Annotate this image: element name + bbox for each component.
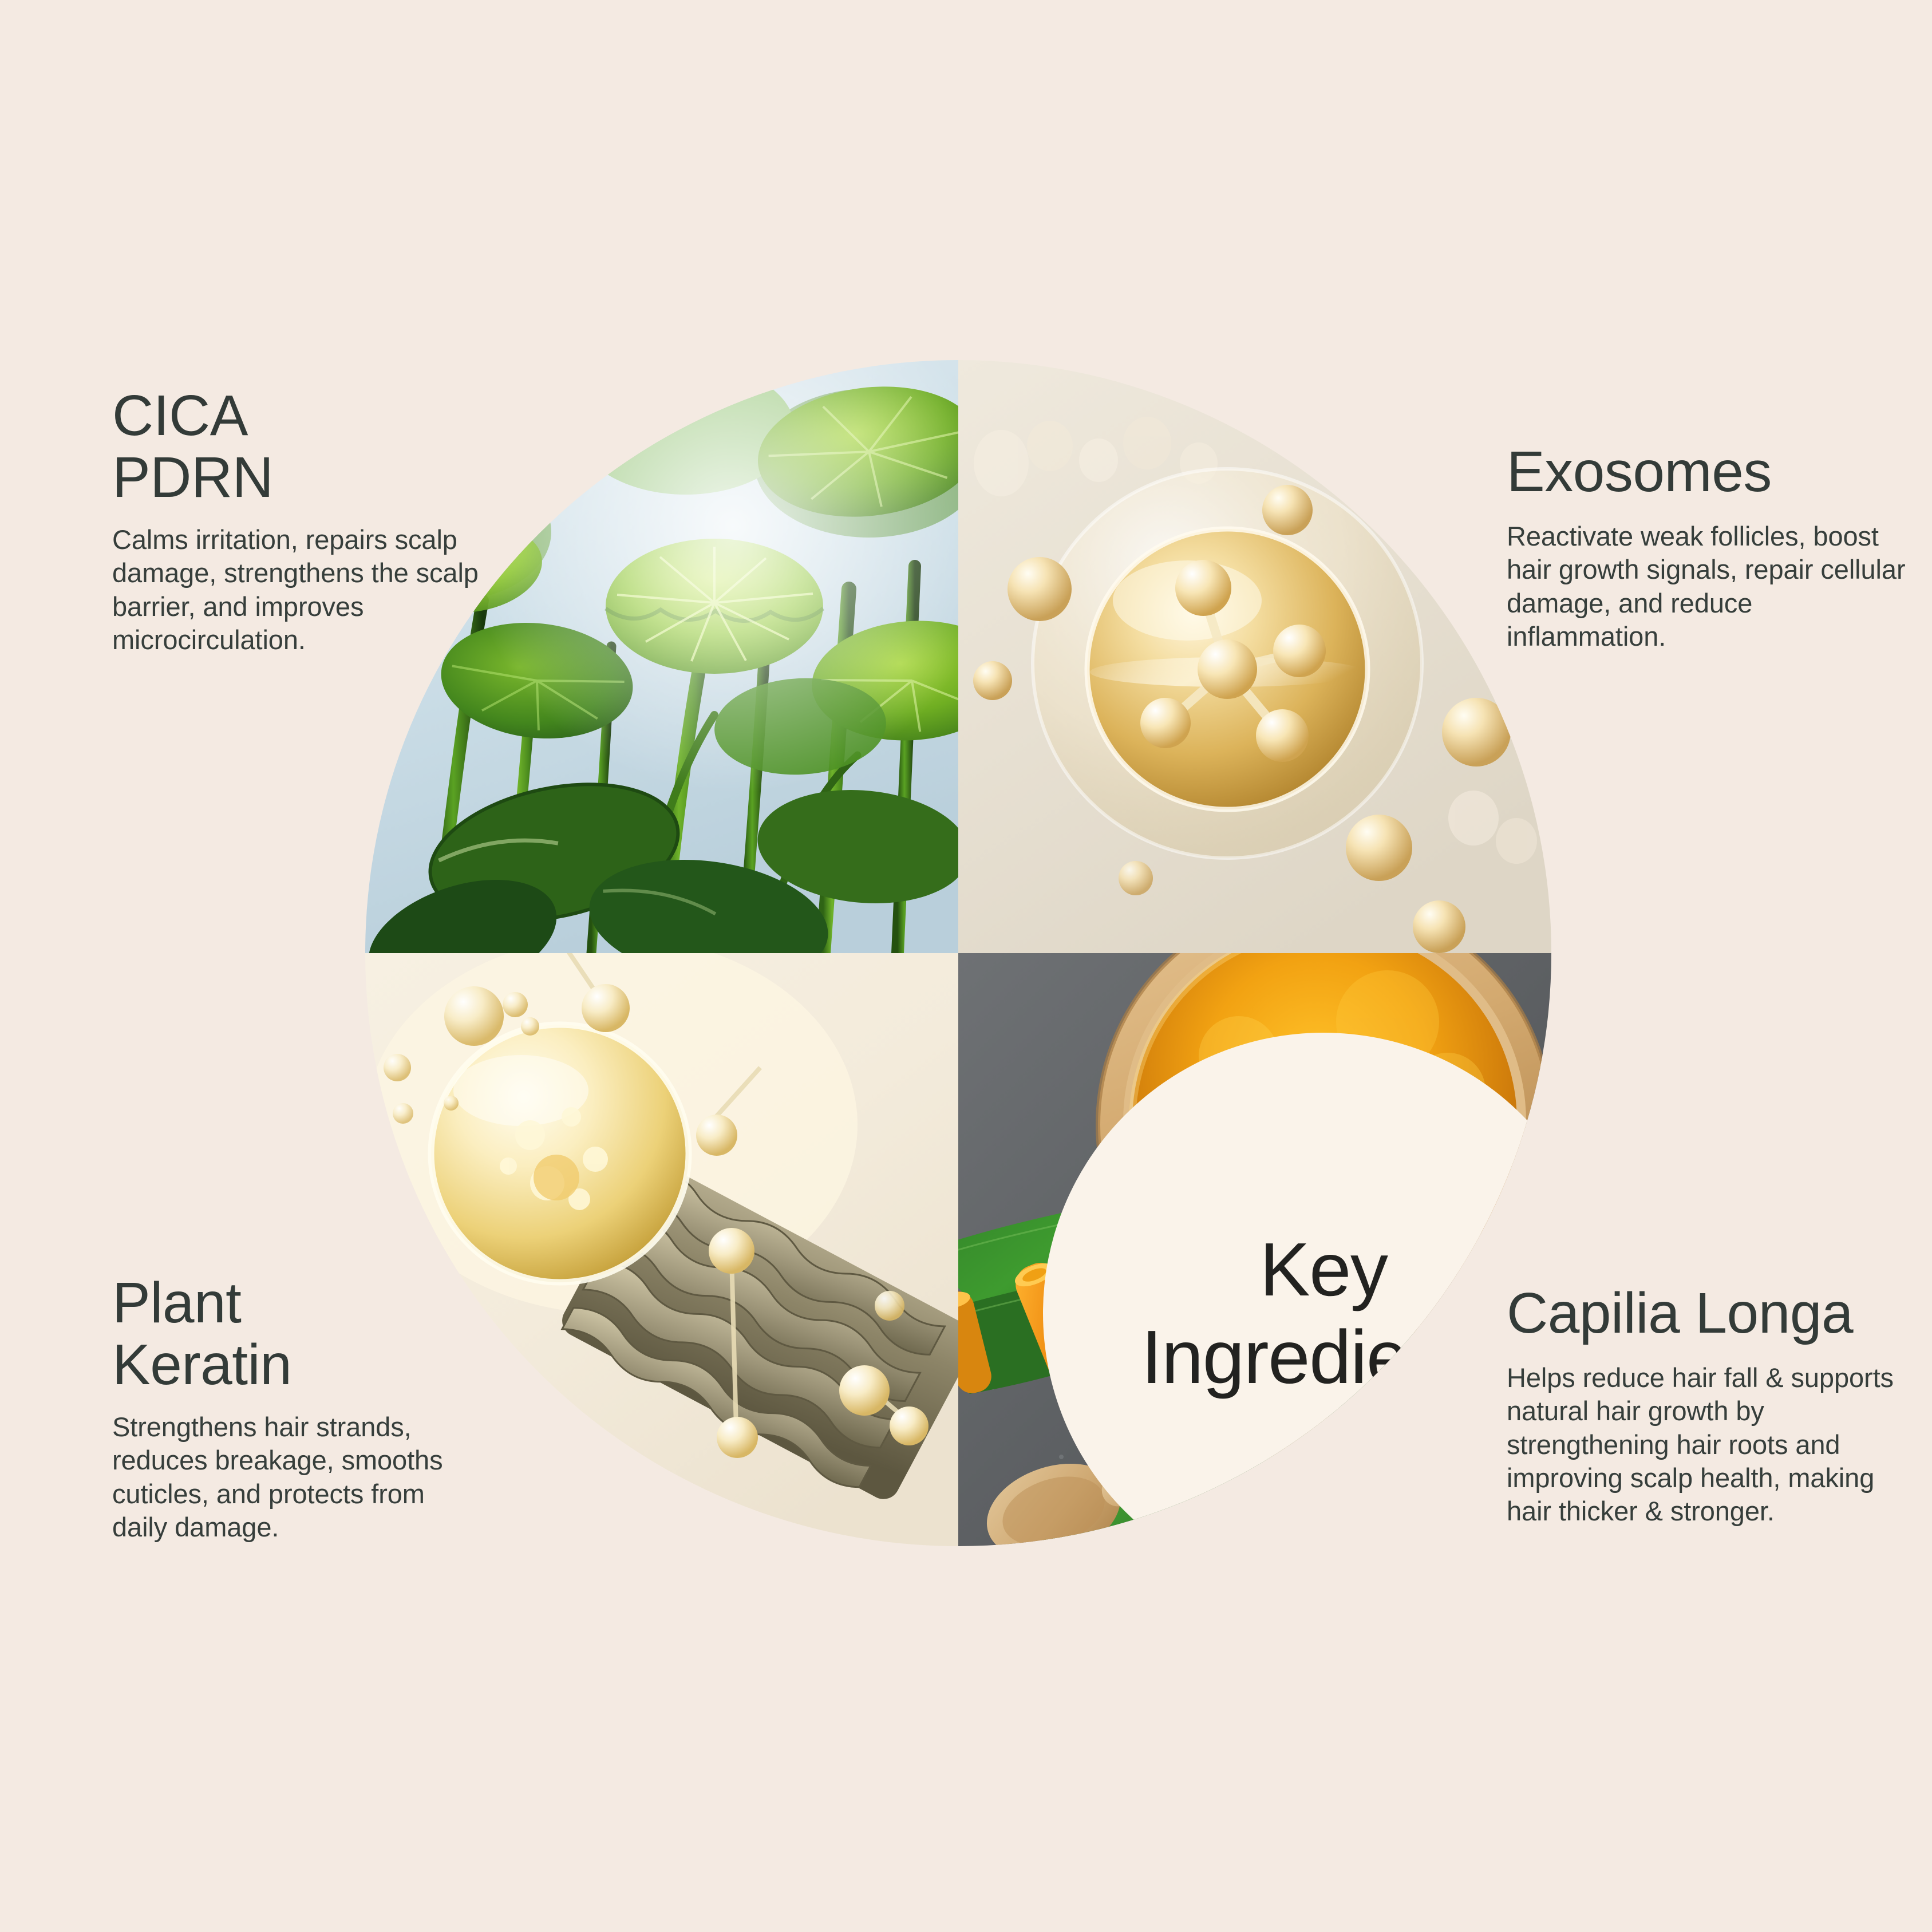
ingredient-body-capilia-longa: Helps reduce hair fall & supports natura… — [1507, 1361, 1919, 1528]
hub-title: Key Ingredients — [1141, 1226, 1506, 1401]
ingredient-block-cica-pdrn: CICA PDRN Calms irritation, repairs scal… — [112, 385, 479, 657]
ingredient-body-cica-pdrn: Calms irritation, repairs scalp damage, … — [112, 523, 479, 657]
ingredient-block-plant-keratin: Plant Keratin Strengthens hair strands, … — [112, 1272, 467, 1544]
ingredient-body-exosomes: Reactivate weak follicles, boost hair gr… — [1507, 520, 1919, 653]
quadrant-image-exosomes — [958, 360, 1551, 953]
ingredient-block-capilia-longa: Capilia Longa Helps reduce hair fall & s… — [1507, 1282, 1919, 1528]
ingredient-heading-plant-keratin: Plant Keratin — [112, 1272, 467, 1396]
ingredient-body-plant-keratin: Strengthens hair strands, reduces breaka… — [112, 1411, 467, 1544]
infographic-canvas: Key Ingredients CICA PDRN Calms irritati… — [0, 0, 1932, 1932]
golden-serum-molecule-droplet-photo — [958, 360, 1551, 953]
hub-title-line-1: Key — [1141, 1226, 1506, 1313]
key-ingredients-wheel: Key Ingredients — [365, 360, 1551, 1546]
ingredient-heading-exosomes: Exosomes — [1507, 441, 1919, 503]
ingredient-heading-cica-pdrn: CICA PDRN — [112, 385, 479, 508]
ingredient-block-exosomes: Exosomes Reactivate weak follicles, boos… — [1507, 441, 1919, 653]
hub-title-line-2: Ingredients — [1141, 1313, 1506, 1401]
ingredient-heading-capilia-longa: Capilia Longa — [1507, 1282, 1919, 1344]
